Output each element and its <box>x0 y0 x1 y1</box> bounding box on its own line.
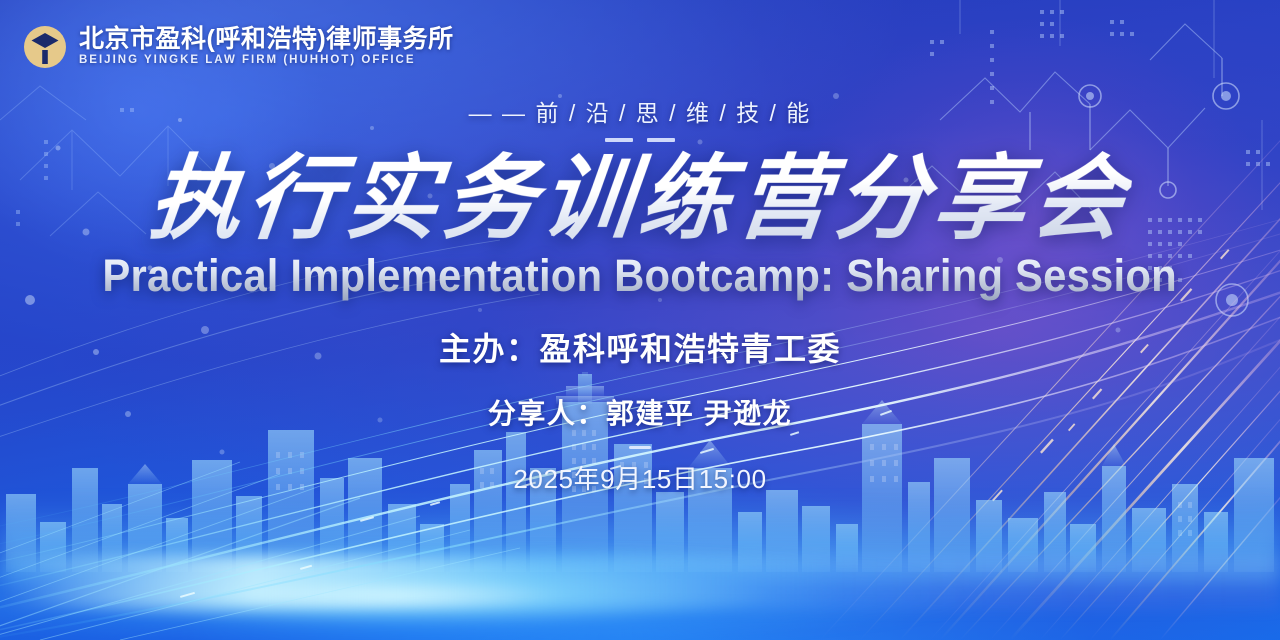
poster-title-en: Practical Implementation Bootcamp: Shari… <box>103 250 1177 302</box>
poster-eyebrow: — — 前 / 沿 / 思 / 维 / 技 / 能 <box>469 94 812 128</box>
event-poster: 北京市盈科(呼和浩特)律师事务所 BEIJING YINGKE LAW FIRM… <box>0 0 1280 640</box>
divider-dash-left <box>605 138 633 142</box>
poster-content: — — 前 / 沿 / 思 / 维 / 技 / 能 执行实务训练营分享会 Pra… <box>0 0 1280 640</box>
poster-speakers-line: 分享人：郭建平 尹逊龙 <box>488 392 792 432</box>
divider-dash-right <box>647 138 675 142</box>
poster-datetime: 2025年9月15日15:00 <box>513 459 766 496</box>
datetime-divider <box>629 446 651 449</box>
poster-title-cn: 执行实务训练营分享会 <box>145 150 1135 248</box>
eyebrow-divider <box>605 138 675 142</box>
poster-host-line: 主办：盈科呼和浩特青工委 <box>439 324 841 370</box>
